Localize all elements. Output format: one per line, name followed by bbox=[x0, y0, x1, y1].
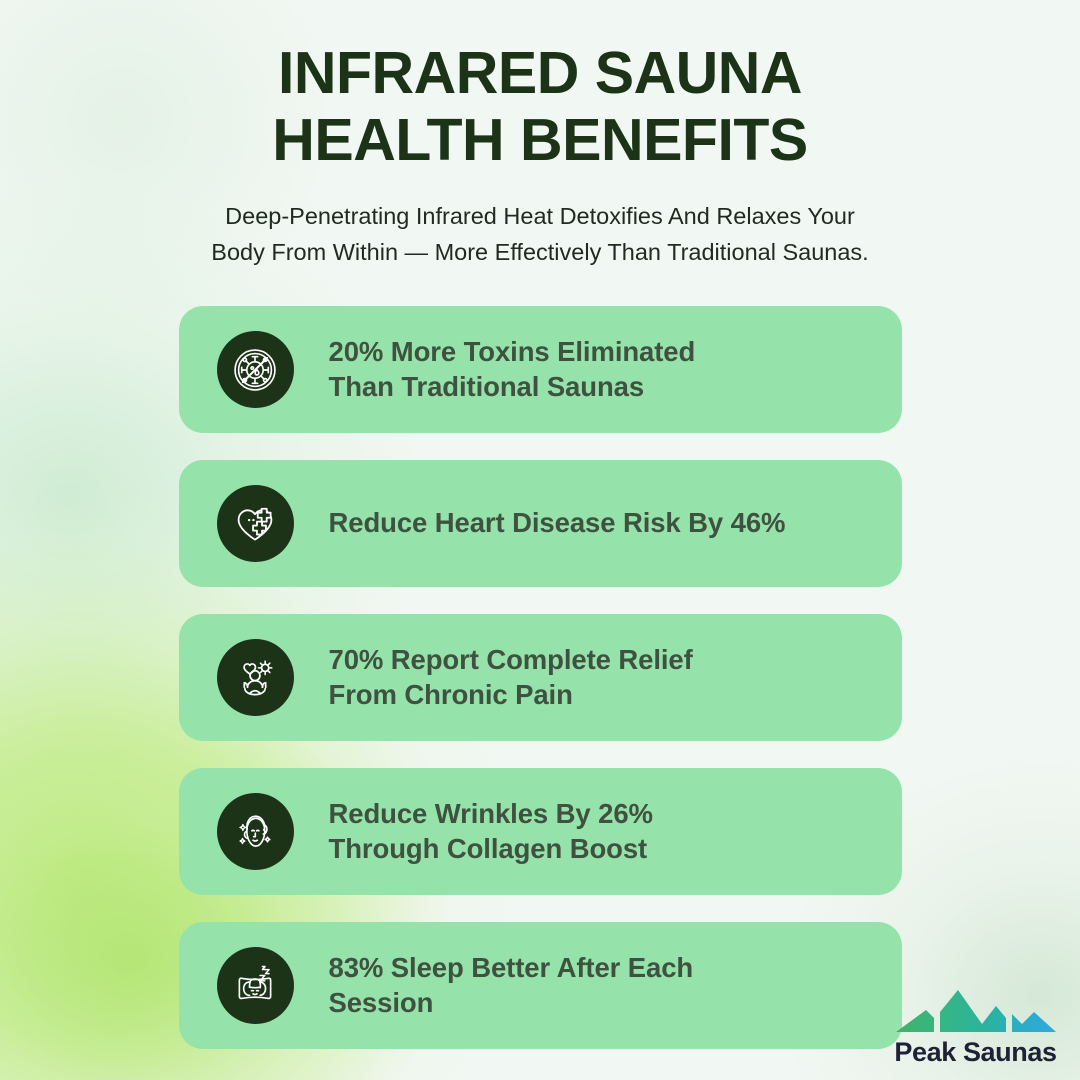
poster-header: INFRARED SAUNA HEALTH BENEFITS Deep-Pene… bbox=[0, 0, 1080, 270]
subtitle-line-1: Deep-Penetrating Infrared Heat Detoxifie… bbox=[145, 199, 935, 235]
benefit-text: 20% More Toxins Eliminated Than Traditio… bbox=[329, 335, 696, 405]
benefit-text: Reduce Wrinkles By 26% Through Collagen … bbox=[329, 797, 653, 867]
heart-medical-cross-icon bbox=[217, 485, 294, 562]
mountain-peaks-icon bbox=[896, 988, 1056, 1036]
benefit-card-heart-disease-risk: Reduce Heart Disease Risk By 46% bbox=[179, 460, 902, 587]
benefit-text-line-2: Than Traditional Saunas bbox=[329, 370, 696, 405]
benefit-text-line-1: Reduce Wrinkles By 26% bbox=[329, 797, 653, 832]
benefit-card-sleep-quality: 83% Sleep Better After Each Session bbox=[179, 922, 902, 1049]
benefit-text: 83% Sleep Better After Each Session bbox=[329, 951, 694, 1021]
benefit-text-line-2: Session bbox=[329, 986, 694, 1021]
benefit-card-chronic-pain-relief: 70% Report Complete Relief From Chronic … bbox=[179, 614, 902, 741]
benefit-text-line-2: Through Collagen Boost bbox=[329, 832, 653, 867]
glowing-face-icon bbox=[217, 793, 294, 870]
no-virus-icon bbox=[217, 331, 294, 408]
benefit-text-line-1: 83% Sleep Better After Each bbox=[329, 951, 694, 986]
meditating-person-icon bbox=[217, 639, 294, 716]
logo-wordmark: Peak Saunas bbox=[893, 1038, 1058, 1068]
benefit-text-line-1: 20% More Toxins Eliminated bbox=[329, 335, 696, 370]
brand-logo: Peak Saunas bbox=[893, 988, 1058, 1068]
page-title: INFRARED SAUNA HEALTH BENEFITS bbox=[0, 44, 1080, 170]
benefit-text: 70% Report Complete Relief From Chronic … bbox=[329, 643, 693, 713]
subtitle-line-2: Body From Within — More Effectively Than… bbox=[145, 235, 935, 271]
benefits-list: 20% More Toxins Eliminated Than Traditio… bbox=[179, 306, 902, 1049]
title-line-1: INFRARED SAUNA bbox=[0, 44, 1080, 103]
page-subtitle: Deep-Penetrating Infrared Heat Detoxifie… bbox=[145, 199, 935, 270]
sleeping-face-icon bbox=[217, 947, 294, 1024]
title-line-2: HEALTH BENEFITS bbox=[0, 111, 1080, 170]
benefit-text-line-1: 70% Report Complete Relief bbox=[329, 643, 693, 678]
benefit-card-wrinkle-reduction: Reduce Wrinkles By 26% Through Collagen … bbox=[179, 768, 902, 895]
infographic-poster: INFRARED SAUNA HEALTH BENEFITS Deep-Pene… bbox=[0, 0, 1080, 1080]
benefit-text: Reduce Heart Disease Risk By 46% bbox=[329, 506, 786, 541]
benefit-card-toxins-eliminated: 20% More Toxins Eliminated Than Traditio… bbox=[179, 306, 902, 433]
benefit-text-line-2: From Chronic Pain bbox=[329, 678, 693, 713]
benefit-text-line-1: Reduce Heart Disease Risk By 46% bbox=[329, 506, 786, 541]
